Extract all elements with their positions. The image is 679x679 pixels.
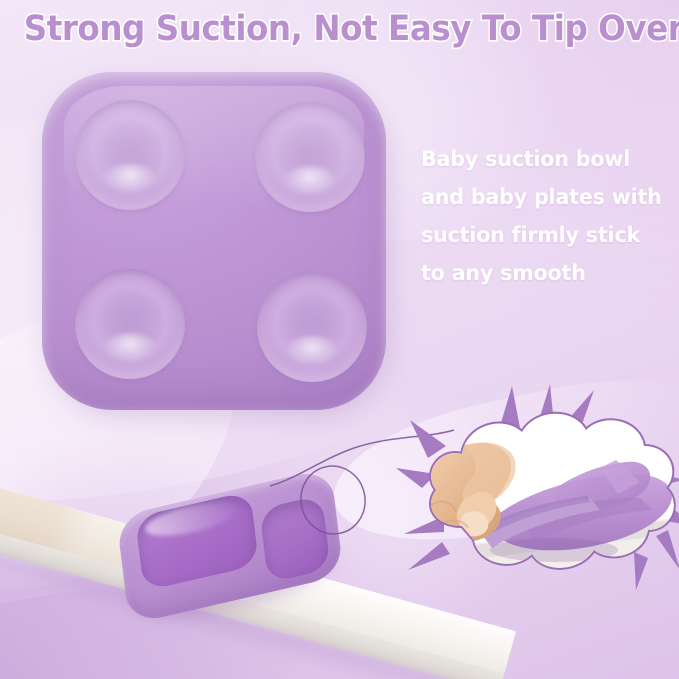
- description-line-2: and baby plates with: [421, 179, 663, 217]
- description-line-1: Baby suction bowl: [421, 141, 663, 179]
- cloud-scene: [404, 398, 679, 598]
- description-line-3: suction firmly stick: [421, 217, 663, 255]
- description-text: Baby suction bowl and baby plates with s…: [421, 141, 663, 293]
- page-title: Strong Suction, Not Easy To Tip Over: [24, 8, 655, 50]
- product-base-body: [42, 72, 386, 410]
- infographic-canvas: Strong Suction, Not Easy To Tip Over Bab…: [0, 0, 679, 679]
- cloud-callout: [404, 398, 679, 598]
- suction-cup-bottom-right: [257, 272, 367, 382]
- product-suction-base: [38, 68, 390, 416]
- suction-cup-top-left: [75, 100, 185, 210]
- suction-cup-top-right: [255, 102, 365, 212]
- suction-cup-bottom-left: [75, 269, 185, 379]
- description-line-4: to any smooth: [421, 255, 663, 293]
